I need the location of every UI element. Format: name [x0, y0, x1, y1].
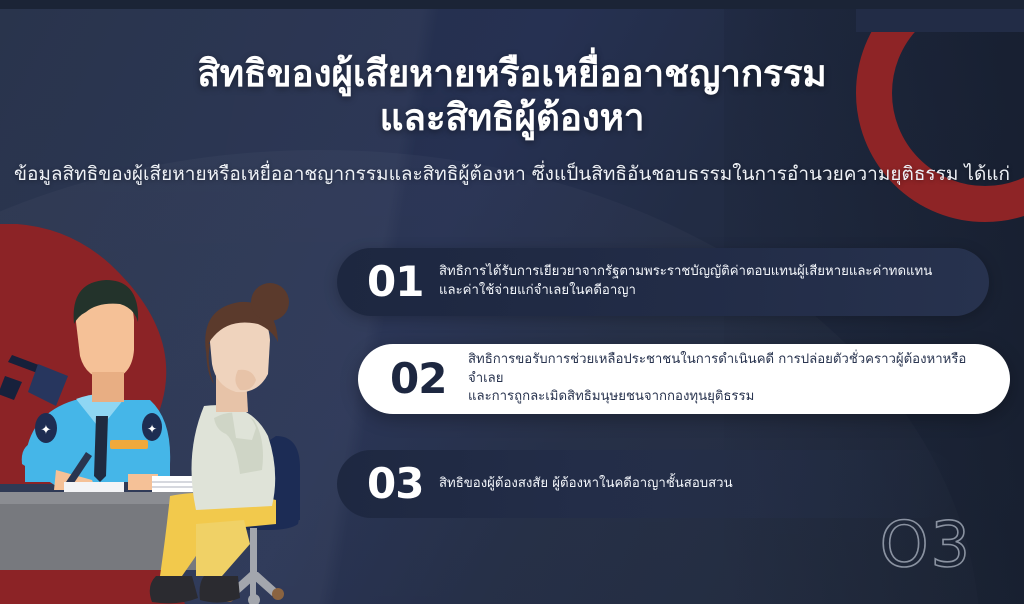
list-item-02-line-1: สิทธิการขอรับการช่วยเหลือประชาชนในการดำเ… [468, 351, 984, 388]
header: สิทธิของผู้เสียหายหรือเหยื่ออาชญากรรม แล… [0, 0, 1024, 187]
list-item-01-line-1: สิทธิการได้รับการเยียวยาจากรัฐตามพระราชบ… [439, 263, 932, 282]
list-item-number-02: 02 [390, 358, 468, 400]
list-item-number-03: 03 [367, 463, 439, 505]
page-subtitle: ข้อมูลสิทธิของผู้เสียหายหรือเหยื่ออาชญาก… [0, 139, 1024, 187]
list-item-03[interactable]: 03 สิทธิของผู้ต้องสงสัย ผู้ต้องหาในคดีอา… [337, 450, 957, 518]
list-item-text-02: สิทธิการขอรับการช่วยเหลือประชาชนในการดำเ… [468, 351, 984, 407]
list-item-text-01: สิทธิการได้รับการเยียวยาจากรัฐตามพระราชบ… [439, 263, 932, 300]
list-item-01[interactable]: 01 สิทธิการได้รับการเยียวยาจากรัฐตามพระร… [337, 248, 989, 316]
list-item-01-line-2: และค่าใช้จ่ายแก่จำเลยในคดีอาญา [439, 282, 932, 301]
page-number-watermark: O3 [880, 514, 972, 576]
list-item-text-03: สิทธิของผู้ต้องสงสัย ผู้ต้องหาในคดีอาญาช… [439, 475, 733, 494]
list-item-03-line-1: สิทธิของผู้ต้องสงสัย ผู้ต้องหาในคดีอาญาช… [439, 475, 733, 494]
infographic-slide: สิทธิของผู้เสียหายหรือเหยื่ออาชญากรรม แล… [0, 0, 1024, 604]
page-title: สิทธิของผู้เสียหายหรือเหยื่ออาชญากรรม แล… [0, 0, 1024, 139]
page-title-line-2: และสิทธิผู้ต้องหา [0, 96, 1024, 140]
page-title-line-1: สิทธิของผู้เสียหายหรือเหยื่ออาชญากรรม [197, 52, 826, 95]
list-item-02[interactable]: 02 สิทธิการขอรับการช่วยเหลือประชาชนในการ… [358, 344, 1010, 414]
rights-list: 01 สิทธิการได้รับการเยียวยาจากรัฐตามพระร… [0, 238, 1024, 538]
list-item-number-01: 01 [367, 261, 439, 303]
list-item-02-line-2: และการถูกละเมิดสิทธิมนุษยชนจากกองทุนยุติ… [468, 388, 984, 407]
